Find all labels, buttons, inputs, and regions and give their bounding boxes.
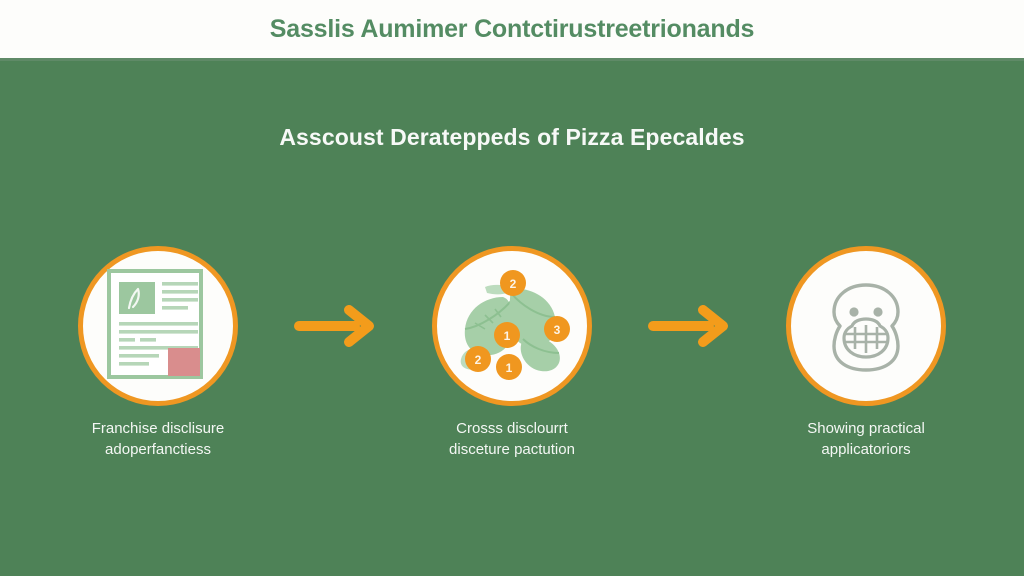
- document-page-icon: [106, 268, 210, 384]
- leaves-with-coins-icon: 2 3 1 2 1: [451, 267, 573, 385]
- section-subtitle: Asscoust Derateppeds of Pizza Epecaldes: [0, 124, 1024, 151]
- badge-label-4: 2: [475, 353, 482, 367]
- face-mask-icon: [818, 278, 914, 374]
- step-3-circle[interactable]: [786, 246, 946, 406]
- step-2-caption: Crosss disclourrt disceture pactution: [387, 418, 637, 461]
- connector-2: [643, 303, 735, 349]
- step-3[interactable]: [786, 246, 946, 406]
- slide-canvas: Sasslis Aumimer Contctirustreetrionands …: [0, 0, 1024, 576]
- process-steps-row: 2 3 1 2 1: [78, 243, 946, 408]
- badge-label-1: 2: [510, 277, 517, 291]
- header-band: Sasslis Aumimer Contctirustreetrionands: [0, 0, 1024, 58]
- badge-label-2: 3: [554, 323, 561, 337]
- step-2-caption-line1: Crosss disclourrt: [387, 418, 637, 439]
- step-1-caption-line2: adoperfanctiess: [33, 439, 283, 460]
- connector-1: [289, 303, 381, 349]
- page-title: Sasslis Aumimer Contctirustreetrionands: [270, 15, 754, 44]
- arrow-right-icon: [647, 305, 731, 347]
- step-3-caption-line2: applicatoriors: [741, 439, 991, 460]
- badge-label-3: 1: [504, 329, 511, 343]
- step-1-caption-line1: Franchise disclisure: [33, 418, 283, 439]
- arrow-right-icon: [293, 305, 377, 347]
- captions-row: Franchise disclisure adoperfanctiess Cro…: [78, 418, 946, 461]
- step-1[interactable]: [78, 246, 238, 406]
- step-3-caption: Showing practical applicatoriors: [741, 418, 991, 461]
- step-1-caption: Franchise disclisure adoperfanctiess: [33, 418, 283, 461]
- step-1-circle[interactable]: [78, 246, 238, 406]
- step-2-circle[interactable]: 2 3 1 2 1: [432, 246, 592, 406]
- step-2-caption-line2: disceture pactution: [387, 439, 637, 460]
- step-3-caption-line1: Showing practical: [741, 418, 991, 439]
- step-2[interactable]: 2 3 1 2 1: [432, 246, 592, 406]
- badge-label-5: 1: [506, 361, 513, 375]
